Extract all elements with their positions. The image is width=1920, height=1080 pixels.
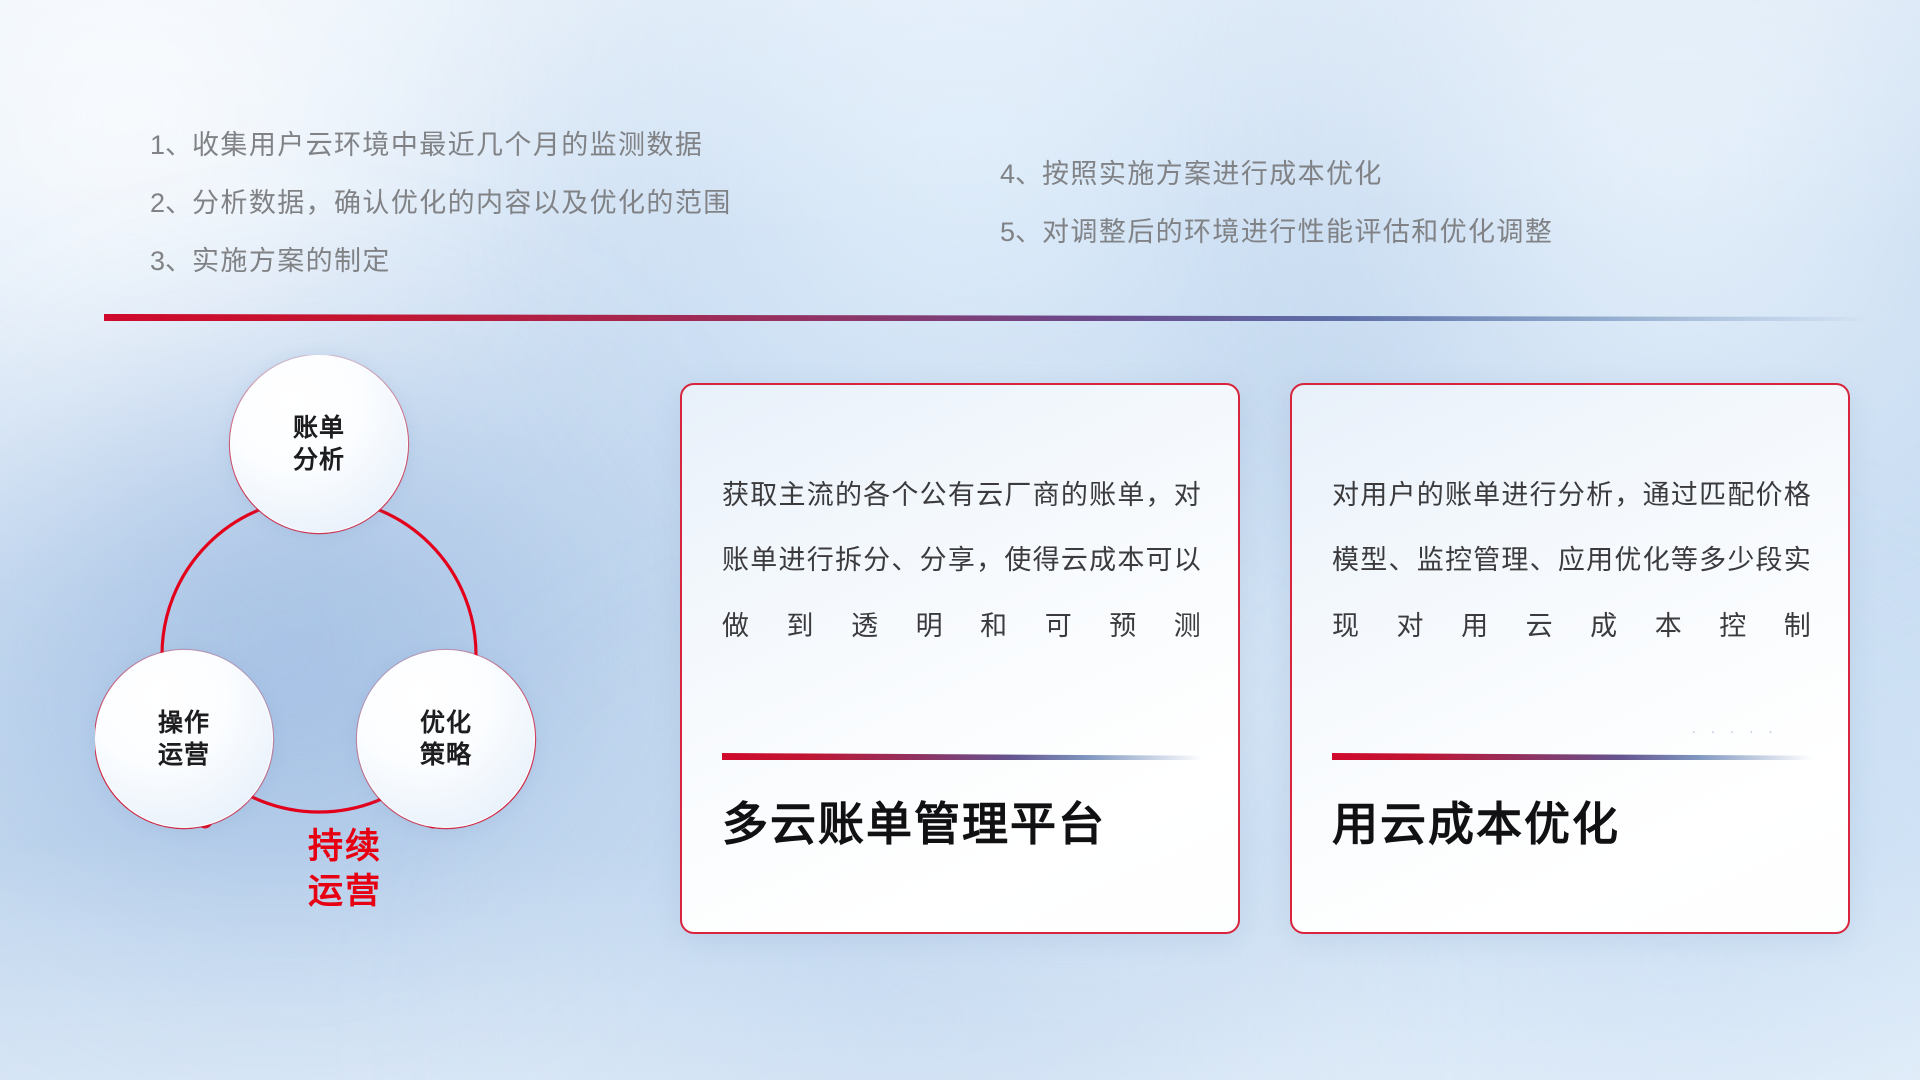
venn-node-bill-analysis[interactable]: 账单 分析 bbox=[230, 355, 408, 533]
card-2-title: 用云成本优化 bbox=[1332, 797, 1812, 852]
step-text-2: 分析数据，确认优化的内容以及优化的范围 bbox=[192, 188, 732, 218]
venn-center-label-line2: 运营 bbox=[245, 870, 445, 915]
card-multi-cloud-billing-platform[interactable]: 获取主流的各个公有云厂商的账单，对账单进行拆分、分享，使得云成本可以做到透明和可… bbox=[680, 383, 1240, 934]
venn-node-optimization-strategy-line1: 优化 bbox=[420, 707, 472, 740]
card-2-divider bbox=[1332, 753, 1812, 760]
venn-node-bill-analysis-line1: 账单 bbox=[293, 412, 345, 445]
venn-node-operations-line1: 操作 bbox=[158, 707, 210, 740]
step-item-3: 3、实施方案的制定 bbox=[150, 248, 391, 275]
venn-node-bill-analysis-line2: 分析 bbox=[293, 444, 345, 477]
step-number-3: 3、 bbox=[150, 246, 192, 276]
card-1-title: 多云账单管理平台 bbox=[722, 797, 1202, 852]
venn-node-operations[interactable]: 操作 运营 bbox=[95, 650, 273, 828]
card-1-body: 获取主流的各个公有云厂商的账单，对账单进行拆分、分享，使得云成本可以做到透明和可… bbox=[722, 463, 1202, 659]
venn-node-optimization-strategy-line2: 策略 bbox=[420, 739, 472, 772]
venn-node-bill-analysis-label: 账单 分析 bbox=[293, 412, 345, 477]
step-text-3: 实施方案的制定 bbox=[192, 246, 391, 276]
step-text-1: 收集用户云环境中最近几个月的监测数据 bbox=[192, 130, 703, 160]
card-1-divider bbox=[722, 753, 1202, 760]
step-item-5: 5、对调整后的环境进行性能评估和优化调整 bbox=[1000, 219, 1553, 246]
venn-node-operations-line2: 运营 bbox=[158, 739, 210, 772]
step-item-4: 4、按照实施方案进行成本优化 bbox=[1000, 161, 1383, 188]
venn-center-label: 持续 运营 bbox=[245, 825, 445, 915]
venn-node-optimization-strategy[interactable]: 优化 策略 bbox=[357, 650, 535, 828]
steps-list: 1、收集用户云环境中最近几个月的监测数据 2、分析数据，确认优化的内容以及优化的… bbox=[0, 0, 1920, 250]
venn-node-operations-label: 操作 运营 bbox=[158, 707, 210, 772]
step-text-4: 按照实施方案进行成本优化 bbox=[1042, 159, 1383, 189]
step-text-5: 对调整后的环境进行性能评估和优化调整 bbox=[1042, 217, 1553, 247]
venn-diagram: 账单 分析 操作 运营 优化 策略 持续 运营 bbox=[95, 355, 625, 965]
card-cloud-cost-optimization[interactable]: 对用户的账单进行分析，通过匹配价格模型、监控管理、应用优化等多少段实现对用云成本… bbox=[1290, 383, 1850, 934]
step-number-5: 5、 bbox=[1000, 217, 1042, 247]
step-number-2: 2、 bbox=[150, 188, 192, 218]
venn-center-label-line1: 持续 bbox=[245, 825, 445, 870]
step-item-2: 2、分析数据，确认优化的内容以及优化的范围 bbox=[150, 190, 732, 217]
card-2-body: 对用户的账单进行分析，通过匹配价格模型、监控管理、应用优化等多少段实现对用云成本… bbox=[1332, 463, 1812, 659]
step-item-1: 1、收集用户云环境中最近几个月的监测数据 bbox=[150, 132, 703, 159]
venn-node-optimization-strategy-label: 优化 策略 bbox=[420, 707, 472, 772]
step-number-1: 1、 bbox=[150, 130, 192, 160]
card-2-dots: · · · · · bbox=[1691, 723, 1778, 740]
step-number-4: 4、 bbox=[1000, 159, 1042, 189]
